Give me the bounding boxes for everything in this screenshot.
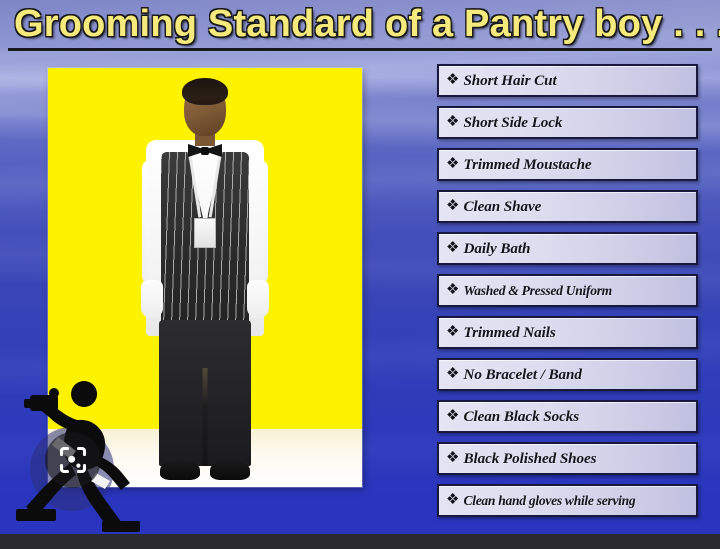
figure-leg-gap	[203, 368, 208, 466]
checklist-item-label: Short Side Lock	[463, 115, 562, 130]
bullet-diamond-icon: ❖	[446, 156, 459, 171]
checklist-item-clean-shave[interactable]: ❖ Clean Shave	[437, 190, 698, 223]
figure-right-glove	[247, 280, 269, 318]
checklist-item-short-hair-cut[interactable]: ❖ Short Hair Cut	[437, 64, 698, 97]
title-underline-rule	[8, 48, 712, 51]
bullet-diamond-icon: ❖	[446, 450, 459, 465]
bullet-diamond-icon: ❖	[446, 72, 459, 87]
bullet-diamond-icon: ❖	[446, 324, 459, 339]
bullet-diamond-icon: ❖	[446, 492, 459, 507]
google-lens-button[interactable]	[45, 432, 101, 488]
presentation-slide: Grooming Standard of a Pantry boy . . .	[0, 0, 720, 549]
checklist-item-trimmed-nails[interactable]: ❖ Trimmed Nails	[437, 316, 698, 349]
checklist-item-label: Trimmed Moustache	[463, 157, 591, 172]
checklist-item-label: Short Hair Cut	[463, 73, 556, 88]
checklist-item-label: No Bracelet / Band	[463, 367, 581, 382]
bullet-diamond-icon: ❖	[446, 114, 459, 129]
checklist-item-label: Clean Black Socks	[463, 409, 579, 424]
slide-title: Grooming Standard of a Pantry boy . . .	[14, 3, 720, 46]
bullet-diamond-icon: ❖	[446, 282, 459, 297]
figure-left-shoe	[160, 460, 200, 480]
checklist-item-clean-black-socks[interactable]: ❖ Clean Black Socks	[437, 400, 698, 433]
figure-hair	[182, 78, 228, 105]
figure-right-shoe	[210, 460, 250, 480]
bottom-bar	[0, 534, 720, 549]
checklist-item-washed-and-pressed-uniform[interactable]: ❖ Washed & Pressed Uniform	[437, 274, 698, 307]
checklist-item-daily-bath[interactable]: ❖ Daily Bath	[437, 232, 698, 265]
checklist-item-label: Clean hand gloves while serving	[463, 494, 635, 508]
bullet-diamond-icon: ❖	[446, 198, 459, 213]
checklist-item-trimmed-moustache[interactable]: ❖ Trimmed Moustache	[437, 148, 698, 181]
title-area: Grooming Standard of a Pantry boy . . .	[0, 0, 720, 56]
checklist-item-label: Washed & Pressed Uniform	[463, 284, 612, 298]
checklist-item-label: Trimmed Nails	[463, 325, 555, 340]
checklist-item-label: Clean Shave	[463, 199, 541, 214]
bullet-diamond-icon: ❖	[446, 240, 459, 255]
pantry-boy-figure	[48, 68, 362, 487]
figure-bow-tie-knot	[201, 147, 209, 155]
figure-left-glove	[141, 280, 163, 318]
checklist-item-label: Black Polished Shoes	[463, 451, 596, 466]
bullet-diamond-icon: ❖	[446, 408, 459, 423]
checklist-item-black-polished-shoes[interactable]: ❖ Black Polished Shoes	[437, 442, 698, 475]
lens-icon	[58, 445, 88, 475]
bullet-diamond-icon: ❖	[446, 366, 459, 381]
checklist-item-no-bracelet-band[interactable]: ❖ No Bracelet / Band	[437, 358, 698, 391]
checklist-item-label: Daily Bath	[463, 241, 530, 256]
grooming-checklist: ❖ Short Hair Cut ❖ Short Side Lock ❖ Tri…	[437, 64, 698, 517]
checklist-item-short-side-lock[interactable]: ❖ Short Side Lock	[437, 106, 698, 139]
figure-name-badge	[194, 218, 216, 248]
checklist-item-clean-hand-gloves-while-serving[interactable]: ❖ Clean hand gloves while serving	[437, 484, 698, 517]
pantry-boy-photo	[48, 68, 362, 487]
